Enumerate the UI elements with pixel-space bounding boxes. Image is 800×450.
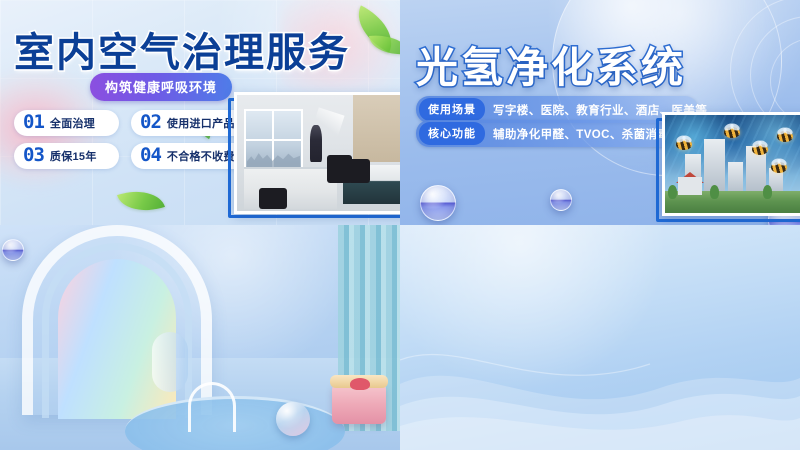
panel-title-indoor-air: 室内空气治理服务 <box>14 20 350 78</box>
feature-item[interactable]: 01 全面治理 <box>14 110 119 136</box>
feature-label: 使用进口产品 <box>167 115 235 131</box>
info-key: 使用场景 <box>419 98 485 121</box>
feature-label: 不合格不收费 <box>167 148 235 164</box>
gift-box-decor <box>332 384 386 424</box>
chair-decor <box>259 188 287 209</box>
pool-rail-decor <box>188 382 236 432</box>
info-key: 核心功能 <box>419 122 485 145</box>
photo-office-treatment <box>234 92 400 214</box>
tree-decor <box>763 185 772 199</box>
wave-decor <box>400 330 800 450</box>
feature-number: 04 <box>140 146 161 165</box>
bee-icon <box>676 139 692 150</box>
glass-sphere-decor <box>550 189 572 211</box>
feature-list-indoor-air: 01 全面治理 02 使用进口产品 03 质保15年 04 不合格不收费 <box>14 110 256 169</box>
poster-grid: 室内空气治理服务 构筑健康呼吸环境 01 全面治理 02 使用进口产品 03 质… <box>0 0 800 450</box>
panel-stone-care: 石材护理服务 石材结晶 石材病变 石材翻新 石材养护 <box>0 225 400 450</box>
desk-decor <box>244 167 337 209</box>
glass-sphere-decor <box>420 185 456 221</box>
panel-title-photohydrogen: 光氢净化系统 <box>416 34 686 95</box>
glass-sphere-decor <box>2 239 24 261</box>
feature-number: 03 <box>23 146 44 165</box>
feature-number: 02 <box>140 113 161 132</box>
badge-indoor-air: 构筑健康呼吸环境 <box>90 73 232 101</box>
photo-smart-city <box>662 112 800 216</box>
wall-decor <box>353 95 400 162</box>
glass-sphere-decor <box>276 402 310 436</box>
ribbon-bow-decor <box>350 378 370 390</box>
chair-decor <box>348 159 370 183</box>
panel-pest-termite: 四害/白蚁防治服务 电话预约 › 现场勘察 › <box>400 225 800 450</box>
panel-indoor-air: 室内空气治理服务 构筑健康呼吸环境 01 全面治理 02 使用进口产品 03 质… <box>0 0 400 225</box>
tree-decor <box>668 185 677 199</box>
panel-photohydrogen: 光氢净化系统 使用场景 写字楼、医院、教育行业、酒店、医美等 核心功能 辅助净化… <box>400 0 800 225</box>
bee-icon <box>777 131 793 142</box>
feature-label: 质保15年 <box>50 148 97 164</box>
tree-decor <box>710 185 719 199</box>
cylinder-decor <box>152 332 188 392</box>
feature-label: 全面治理 <box>50 115 95 131</box>
bee-icon <box>724 127 740 138</box>
worker-figure <box>310 125 322 162</box>
house-decor <box>678 177 702 195</box>
feature-item[interactable]: 03 质保15年 <box>14 143 119 169</box>
feature-number: 01 <box>23 113 44 132</box>
